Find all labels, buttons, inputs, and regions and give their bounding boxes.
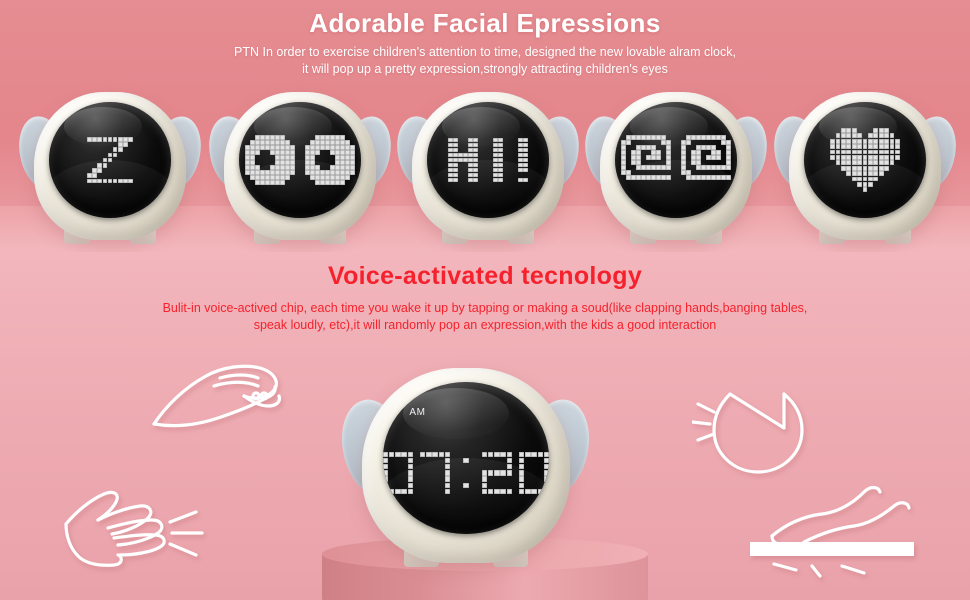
clock-body bbox=[600, 92, 752, 240]
expression-open-eyes-icon bbox=[239, 102, 361, 217]
clock-screen bbox=[239, 102, 361, 217]
clock-body bbox=[412, 92, 564, 240]
hero-clock-screen: AM bbox=[383, 382, 549, 534]
product-marketing-banner: Adorable Facial Epressions PTN In order … bbox=[0, 0, 970, 600]
tapping-hand-icon bbox=[148, 362, 288, 437]
clock-body: AM bbox=[362, 368, 570, 563]
banging-table-hand-icon bbox=[742, 478, 922, 578]
voice-section-title: Voice-activated tecnology bbox=[0, 262, 970, 291]
hero-time-display bbox=[383, 397, 549, 534]
clock-screen bbox=[615, 102, 737, 217]
clock-greeting-hi bbox=[412, 92, 564, 240]
voice-subtitle-line1: Bulit-in voice-actived chip, each time y… bbox=[0, 300, 970, 317]
clock-body bbox=[34, 92, 186, 240]
page-title: Adorable Facial Epressions bbox=[0, 8, 970, 39]
expression-heart-icon bbox=[804, 102, 926, 217]
page-subtitle-line2: it will pop up a pretty expression,stron… bbox=[0, 61, 970, 78]
clapping-hands-icon bbox=[62, 470, 217, 570]
clock-open-eyes bbox=[224, 92, 376, 240]
clock-heart bbox=[789, 92, 941, 240]
clock-body bbox=[224, 92, 376, 240]
hero-clock: AM bbox=[362, 368, 570, 563]
clock-screen bbox=[427, 102, 549, 217]
clock-sleeping-z bbox=[34, 92, 186, 240]
expression-sleeping-z-icon bbox=[49, 102, 171, 217]
page-subtitle-line1: PTN In order to exercise children's atte… bbox=[0, 44, 970, 61]
expression-dizzy-spiral-eyes-icon bbox=[615, 102, 737, 217]
clock-body bbox=[789, 92, 941, 240]
clock-screen bbox=[49, 102, 171, 217]
clock-dizzy-eyes bbox=[600, 92, 752, 240]
voice-subtitle-line2: speak loudly, etc),it will randomly pop … bbox=[0, 317, 970, 334]
clock-screen bbox=[804, 102, 926, 217]
expression-greeting-hi-icon bbox=[427, 102, 549, 217]
speaking-mouth-icon bbox=[692, 378, 812, 478]
